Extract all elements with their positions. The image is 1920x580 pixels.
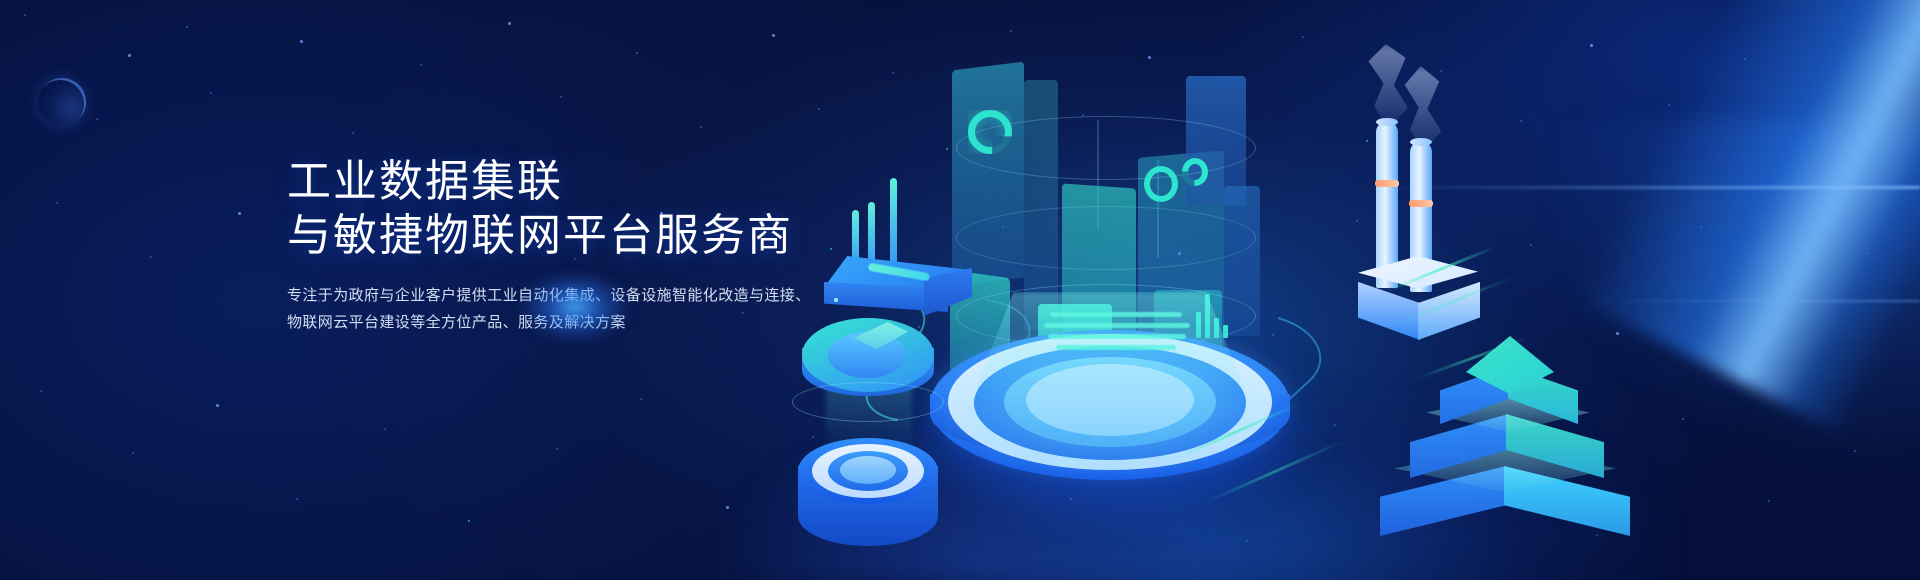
stepped-pyramid [1388, 336, 1628, 580]
chimney-band-1 [1375, 180, 1399, 187]
headline-line-2: 与敏捷物联网平台服务商 [287, 209, 847, 263]
status-led [834, 298, 838, 302]
small-disc-platform [798, 430, 938, 580]
crescent-planet-icon [38, 78, 86, 126]
hero-banner: 工业数据集联 与敏捷物联网平台服务商 专注于为政府与企业客户提供工业自动化集成、… [0, 0, 1920, 580]
hologram-disc-platform [930, 302, 1290, 492]
data-stripes [1042, 310, 1192, 352]
headline-line-1: 工业数据集联 [287, 155, 847, 209]
chimney-band-2 [1409, 200, 1433, 207]
router-gateway [824, 212, 974, 332]
donut-gauge-2 [1144, 166, 1178, 202]
page-title: 工业数据集联 与敏捷物联网平台服务商 [287, 155, 847, 262]
hero-illustration [780, 0, 1920, 580]
factory-chimneys [1340, 60, 1560, 330]
antenna-icon-3 [890, 178, 897, 274]
center-glow-accent [520, 272, 630, 342]
